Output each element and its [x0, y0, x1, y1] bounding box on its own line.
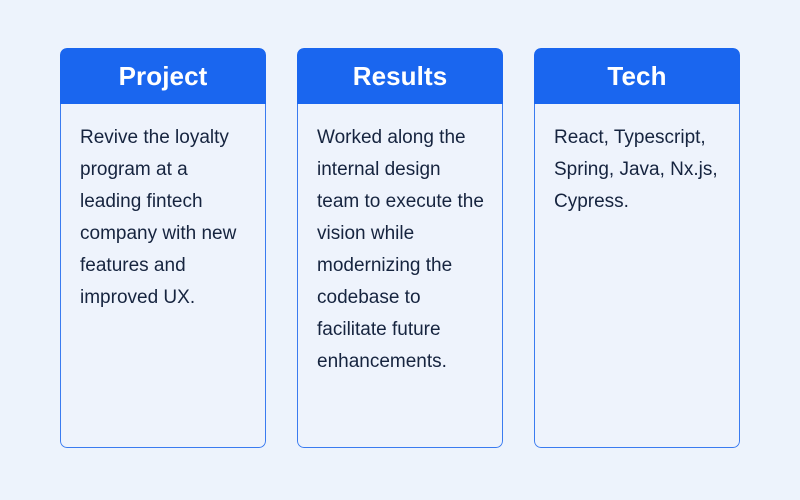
- card-tech-body: React, Typescript, Spring, Java, Nx.js, …: [534, 104, 740, 448]
- card-results-body: Worked along the internal design team to…: [297, 104, 503, 448]
- card-results-title: Results: [353, 63, 448, 89]
- card-tech-header: Tech: [534, 48, 740, 104]
- card-project-header: Project: [60, 48, 266, 104]
- card-project-body: Revive the loyalty program at a leading …: [60, 104, 266, 448]
- page-canvas: Project Revive the loyalty program at a …: [0, 0, 800, 500]
- card-results-text: Worked along the internal design team to…: [317, 122, 488, 378]
- card-tech-text: React, Typescript, Spring, Java, Nx.js, …: [554, 122, 725, 218]
- card-project-text: Revive the loyalty program at a leading …: [80, 122, 251, 314]
- card-results: Results Worked along the internal design…: [297, 48, 503, 448]
- card-tech: Tech React, Typescript, Spring, Java, Nx…: [534, 48, 740, 448]
- card-results-header: Results: [297, 48, 503, 104]
- card-project: Project Revive the loyalty program at a …: [60, 48, 266, 448]
- card-row: Project Revive the loyalty program at a …: [60, 48, 740, 448]
- card-tech-title: Tech: [607, 63, 666, 89]
- card-project-title: Project: [119, 63, 208, 89]
